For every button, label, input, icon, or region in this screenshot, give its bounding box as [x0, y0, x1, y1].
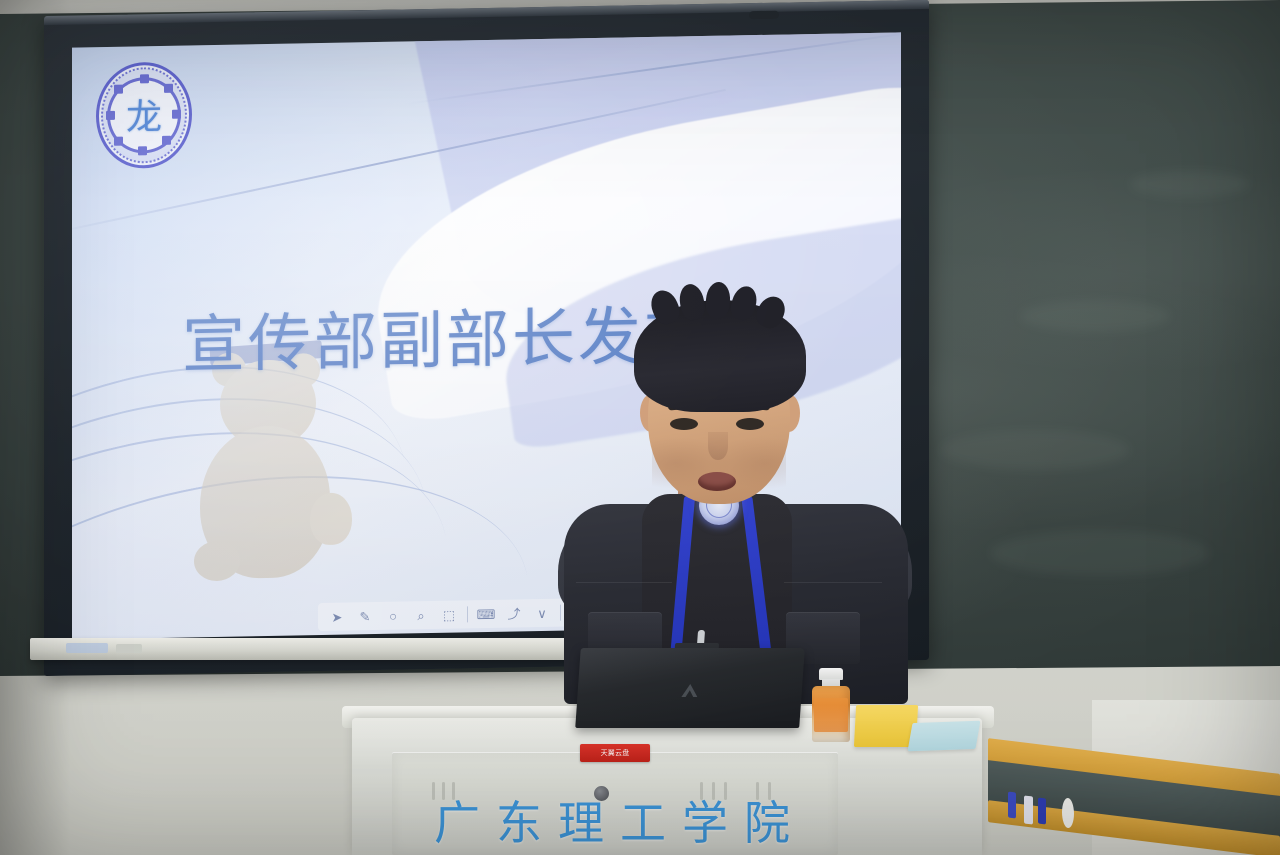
- chalk-piece[interactable]: [1038, 798, 1046, 825]
- toolbar-separator: [467, 606, 468, 622]
- share-icon[interactable]: ⤴: [500, 602, 528, 625]
- bear-leg: [194, 541, 240, 582]
- student-presenter: [556, 282, 916, 702]
- eye-right: [736, 418, 764, 430]
- red-warranty-sticker: 天翼云盘: [580, 744, 650, 762]
- chalk-tray-desk: [988, 756, 1280, 855]
- emblem-glyph: 龙: [126, 99, 162, 136]
- highlighter-icon[interactable]: ○: [379, 604, 407, 627]
- magnifier-icon[interactable]: ⌕: [407, 604, 435, 627]
- vest-seam: [784, 582, 882, 583]
- screen-icon[interactable]: ⬚: [435, 603, 463, 626]
- chalk-streak: [990, 530, 1210, 576]
- chalk-streak: [1130, 170, 1250, 198]
- chalk-streak: [1020, 300, 1170, 332]
- bottle-label: [814, 698, 848, 732]
- chevron-down-icon[interactable]: ∨: [528, 602, 556, 625]
- chalk-piece[interactable]: [1024, 795, 1033, 824]
- ir-sensor-icon: [749, 11, 779, 20]
- cursor-icon[interactable]: ➤: [323, 605, 351, 628]
- bear-arm: [310, 492, 352, 545]
- blue-paper[interactable]: [908, 721, 981, 752]
- chalk-streak: [940, 430, 1130, 470]
- chalk-piece[interactable]: [1008, 792, 1016, 819]
- nose: [708, 432, 728, 460]
- laptop[interactable]: [575, 648, 805, 728]
- shelf-sticker: [66, 643, 108, 653]
- classroom-presentation-scene: 龙 宣传部副部长发言 ➤ ✎ ○ ⌕ ⬚: [0, 0, 1280, 855]
- chalk-piece[interactable]: [1062, 797, 1074, 828]
- university-emblem-icon: 龙: [96, 61, 192, 169]
- lectern-school-name: 广东理工学院: [410, 800, 830, 846]
- shelf-sticker-secondary: [116, 644, 142, 653]
- vest-seam: [576, 582, 672, 583]
- pen-icon[interactable]: ✎: [351, 605, 379, 628]
- mouth: [698, 472, 736, 491]
- water-bottle[interactable]: [810, 668, 852, 742]
- eye-left: [670, 418, 698, 430]
- keyboard-icon[interactable]: ⌨: [472, 603, 500, 626]
